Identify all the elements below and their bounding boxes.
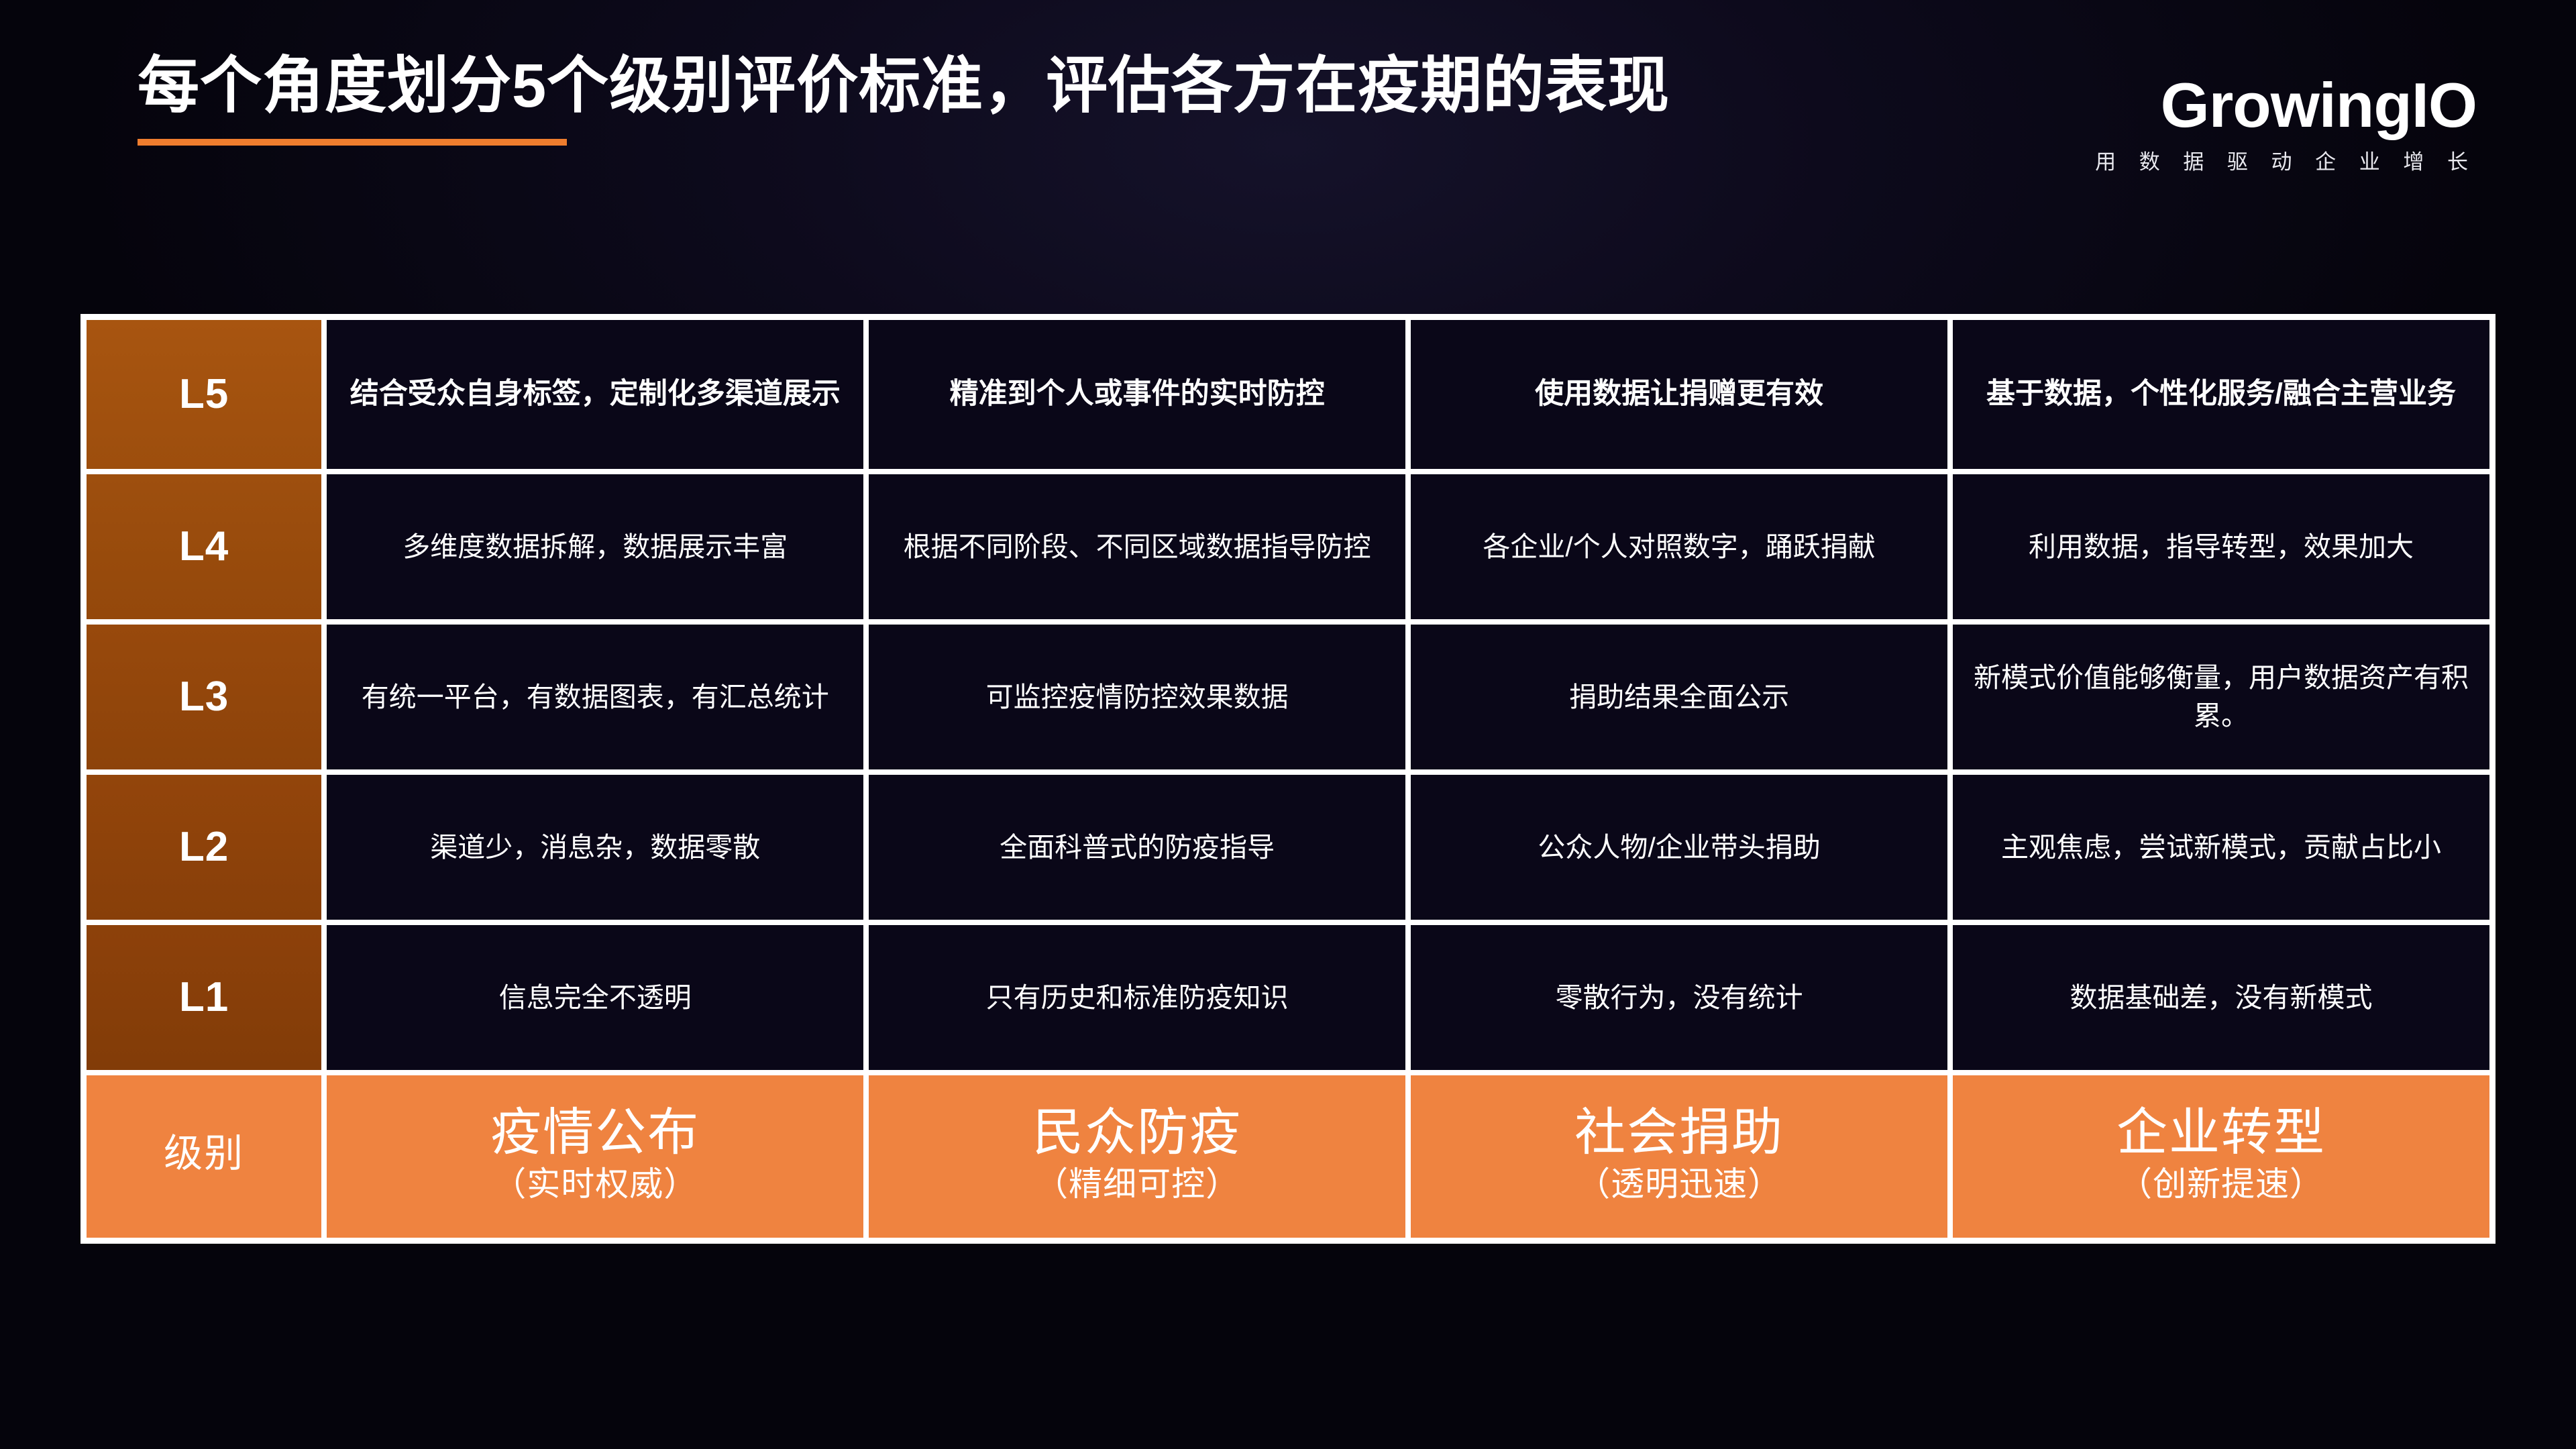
cell-l1-enterprise-transformation: 数据基础差，没有新模式 bbox=[1950, 922, 2492, 1073]
title-block: 每个角度划分5个级别评价标准，评估各方在疫期的表现 bbox=[138, 52, 1670, 146]
summary-subtitle: （创新提速） bbox=[1965, 1165, 2477, 1204]
level-label-l2: L2 bbox=[84, 772, 324, 922]
table-row: L3 有统一平台，有数据图表，有汇总统计 可监控疫情防控效果数据 捐助结果全面公… bbox=[84, 622, 2492, 772]
cell-l5-enterprise-transformation: 基于数据，个性化服务/融合主营业务 bbox=[1950, 317, 2492, 472]
cell-l3-social-donation: 捐助结果全面公示 bbox=[1408, 622, 1950, 772]
evaluation-matrix: L5 结合受众自身标签，定制化多渠道展示 精准到个人或事件的实时防控 使用数据让… bbox=[80, 314, 2495, 1244]
summary-subtitle: （实时权威） bbox=[339, 1165, 851, 1204]
cell-l2-public-prevention: 全面科普式的防疫指导 bbox=[866, 772, 1408, 922]
cell-l5-epidemic-disclosure: 结合受众自身标签，定制化多渠道展示 bbox=[324, 317, 866, 472]
summary-column-public-prevention: 民众防疫 （精细可控） bbox=[866, 1073, 1408, 1240]
table-row: L5 结合受众自身标签，定制化多渠道展示 精准到个人或事件的实时防控 使用数据让… bbox=[84, 317, 2492, 472]
summary-column-epidemic-disclosure: 疫情公布 （实时权威） bbox=[324, 1073, 866, 1240]
summary-subtitle: （透明迅速） bbox=[1423, 1165, 1935, 1204]
summary-row-label: 级别 bbox=[84, 1073, 324, 1240]
brand-logo: GrowingIO 用 数 据 驱 动 企 业 增 长 bbox=[2095, 74, 2477, 172]
cell-l4-enterprise-transformation: 利用数据，指导转型，效果加大 bbox=[1950, 472, 2492, 622]
cell-l1-social-donation: 零散行为，没有统计 bbox=[1408, 922, 1950, 1073]
slide-header: 每个角度划分5个级别评价标准，评估各方在疫期的表现 GrowingIO 用 数 … bbox=[0, 0, 2576, 255]
summary-title: 民众防疫 bbox=[881, 1104, 1393, 1161]
cell-l3-public-prevention: 可监控疫情防控效果数据 bbox=[866, 622, 1408, 772]
summary-title: 社会捐助 bbox=[1423, 1104, 1935, 1161]
cell-l2-social-donation: 公众人物/企业带头捐助 bbox=[1408, 772, 1950, 922]
cell-l4-public-prevention: 根据不同阶段、不同区域数据指导防控 bbox=[866, 472, 1408, 622]
logo-wordmark: GrowingIO bbox=[2095, 74, 2477, 137]
cell-l5-public-prevention: 精准到个人或事件的实时防控 bbox=[866, 317, 1408, 472]
cell-l1-public-prevention: 只有历史和标准防疫知识 bbox=[866, 922, 1408, 1073]
table-row: L2 渠道少，消息杂，数据零散 全面科普式的防疫指导 公众人物/企业带头捐助 主… bbox=[84, 772, 2492, 922]
cell-l5-social-donation: 使用数据让捐赠更有效 bbox=[1408, 317, 1950, 472]
cell-l4-social-donation: 各企业/个人对照数字，踊跃捐献 bbox=[1408, 472, 1950, 622]
summary-column-social-donation: 社会捐助 （透明迅速） bbox=[1408, 1073, 1950, 1240]
logo-tagline: 用 数 据 驱 动 企 业 增 长 bbox=[2095, 152, 2477, 172]
table-row: L1 信息完全不透明 只有历史和标准防疫知识 零散行为，没有统计 数据基础差，没… bbox=[84, 922, 2492, 1073]
level-label-l1: L1 bbox=[84, 922, 324, 1073]
summary-subtitle: （精细可控） bbox=[881, 1165, 1393, 1204]
cell-l4-epidemic-disclosure: 多维度数据拆解，数据展示丰富 bbox=[324, 472, 866, 622]
summary-title: 疫情公布 bbox=[339, 1104, 851, 1161]
level-label-l5: L5 bbox=[84, 317, 324, 472]
cell-l1-epidemic-disclosure: 信息完全不透明 bbox=[324, 922, 866, 1073]
summary-row: 级别 疫情公布 （实时权威） 民众防疫 （精细可控） 社会捐助 （透明迅速） 企… bbox=[84, 1073, 2492, 1240]
level-label-l3: L3 bbox=[84, 622, 324, 772]
table-row: L4 多维度数据拆解，数据展示丰富 根据不同阶段、不同区域数据指导防控 各企业/… bbox=[84, 472, 2492, 622]
page-title: 每个角度划分5个级别评价标准，评估各方在疫期的表现 bbox=[138, 52, 1670, 120]
title-underline bbox=[138, 139, 567, 146]
summary-title: 企业转型 bbox=[1965, 1104, 2477, 1161]
cell-l2-epidemic-disclosure: 渠道少，消息杂，数据零散 bbox=[324, 772, 866, 922]
summary-column-enterprise-transformation: 企业转型 （创新提速） bbox=[1950, 1073, 2492, 1240]
cell-l2-enterprise-transformation: 主观焦虑，尝试新模式，贡献占比小 bbox=[1950, 772, 2492, 922]
cell-l3-enterprise-transformation: 新模式价值能够衡量，用户数据资产有积累。 bbox=[1950, 622, 2492, 772]
cell-l3-epidemic-disclosure: 有统一平台，有数据图表，有汇总统计 bbox=[324, 622, 866, 772]
slide-root: 每个角度划分5个级别评价标准，评估各方在疫期的表现 GrowingIO 用 数 … bbox=[0, 0, 2576, 1449]
level-label-l4: L4 bbox=[84, 472, 324, 622]
